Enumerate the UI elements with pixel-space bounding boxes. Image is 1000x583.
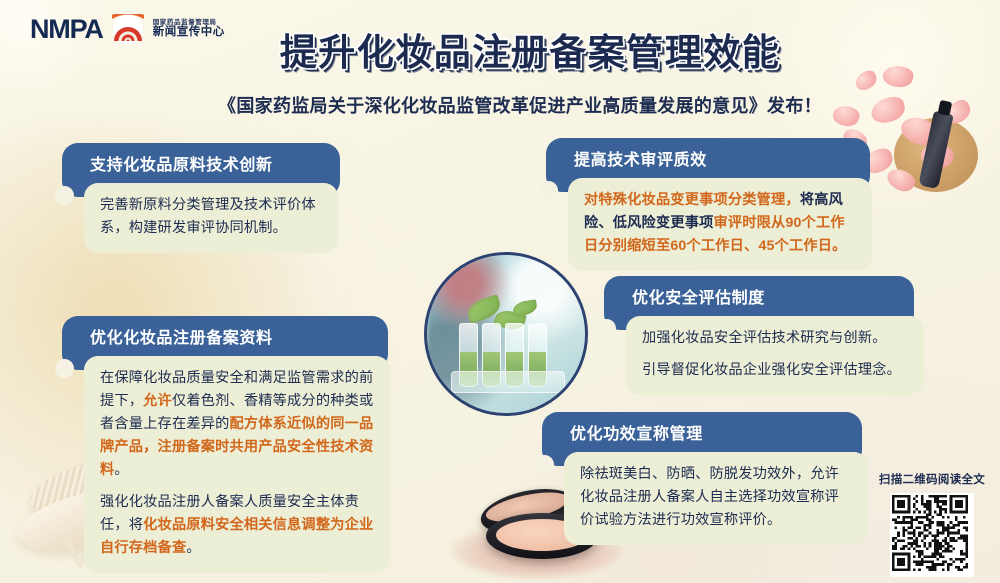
card-body: 在保障化妆品质量安全和满足监管需求的前提下，允许仅着色剂、香精等成分的种类或者含… — [84, 356, 390, 573]
text-run: 。 — [114, 462, 128, 478]
lab-test-tubes-plants-photo — [424, 252, 588, 416]
qr-caption: 扫描二维码阅读全文 — [876, 471, 988, 487]
card-paragraph: 除祛斑美白、防晒、防脱发功效外，允许化妆品注册人备案人自主选择功效宣称评价试验方… — [580, 463, 852, 532]
text-run: 允许 — [143, 393, 172, 409]
qr-section: 扫描二维码阅读全文 — [876, 471, 988, 577]
card-notch-circle — [55, 186, 74, 205]
info-card-4: 优化安全评估制度 加强化妆品安全评估技术研究与创新。引导督促化妆品企业强化安全评… — [604, 276, 922, 395]
text-run: 完善新原料分类管理及技术评价体系，构建研发审评协同机制。 — [100, 197, 316, 236]
card-paragraph: 引导督促化妆品企业强化安全评估理念。 — [642, 359, 908, 382]
card-paragraph: 在保障化妆品质量安全和满足监管需求的前提下，允许仅着色剂、香精等成分的种类或者含… — [100, 367, 374, 482]
card-notch-circle — [539, 181, 558, 200]
infographic-poster: NMPA 国家药品监督管理局 新闻宣传中心 提升化妆品注册备案管理效能 《国家药… — [0, 0, 1000, 583]
card-body: 加强化妆品安全评估技术研究与创新。引导督促化妆品企业强化安全评估理念。 — [626, 316, 924, 395]
text-run: 对特殊化妆品变更事项分类管理， — [584, 192, 800, 208]
card-body: 对特殊化妆品变更事项分类管理，将高风险、低风险变更事项审评时限从90个工作日分别… — [568, 178, 872, 271]
qr-code-image[interactable] — [890, 493, 974, 577]
info-card-1: 支持化妆品原料技术创新 完善新原料分类管理及技术评价体系，构建研发审评协同机制。 — [62, 143, 340, 253]
info-card-3: 优化化妆品注册备案资料 在保障化妆品质量安全和满足监管需求的前提下，允许仅着色剂… — [62, 316, 392, 573]
card-paragraph: 强化化妆品注册人备案人质量安全主体责任，将化妆品原料安全相关信息调整为企业自行存… — [100, 491, 374, 560]
card-body: 完善新原料分类管理及技术评价体系，构建研发审评协同机制。 — [84, 183, 338, 253]
tube-rack — [451, 371, 565, 393]
text-run: 除祛斑美白、防晒、防脱发功效外，允许化妆品注册人备案人自主选择功效宣称评价试验方… — [580, 466, 839, 528]
text-run: 引导督促化妆品企业强化安全评估理念。 — [642, 362, 901, 378]
text-run: 。 — [186, 540, 200, 556]
info-card-2: 提高技术审评质效 对特殊化妆品变更事项分类管理，将高风险、低风险变更事项审评时限… — [546, 138, 876, 271]
card-notch-circle — [535, 455, 554, 474]
card-paragraph: 对特殊化妆品变更事项分类管理，将高风险、低风险变更事项审评时限从90个工作日分别… — [584, 189, 856, 258]
card-paragraph: 完善新原料分类管理及技术评价体系，构建研发审评协同机制。 — [100, 194, 322, 240]
card-paragraph: 加强化妆品安全评估技术研究与创新。 — [642, 327, 908, 350]
card-notch-circle — [55, 359, 74, 378]
card-body: 除祛斑美白、防晒、防脱发功效外，允许化妆品注册人备案人自主选择功效宣称评价试验方… — [564, 452, 868, 545]
text-run: 加强化妆品安全评估技术研究与创新。 — [642, 330, 887, 346]
info-card-5: 优化功效宣称管理 除祛斑美白、防晒、防脱发功效外，允许化妆品注册人备案人自主选择… — [542, 412, 872, 545]
card-notch-circle — [597, 319, 616, 338]
